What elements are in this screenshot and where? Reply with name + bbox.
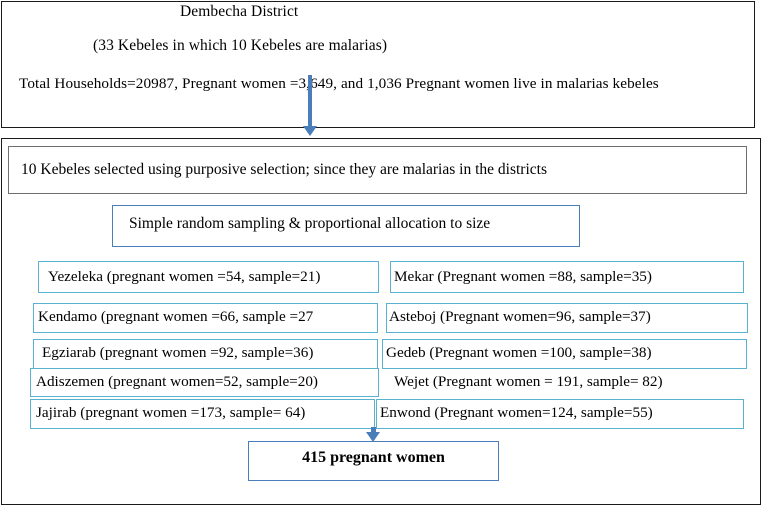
srs-allocation-box: Simple random sampling & proportional al… <box>112 205 580 247</box>
kebele-label-adiszemen: Adiszemen (pregnant women=52, sample=20) <box>36 374 318 389</box>
kebele-label-gedeb: Gedeb (Pregnant women =100, sample=38) <box>386 345 652 360</box>
kebele-label-asteboj: Asteboj (Pregnant women=96, sample=37) <box>389 309 651 324</box>
arrow-district-to-selection-shaft <box>308 75 312 128</box>
kebele-label-enwond: Enwond (Pregnant women=124, sample=55) <box>380 405 653 420</box>
total-sample-label: 415 pregnant women <box>249 449 498 467</box>
flowchart-canvas: Dembecha District (33 Kebeles in which 1… <box>0 0 784 516</box>
kebele-label-egziarab: Egziarab (pregnant women =92, sample=36) <box>42 345 313 360</box>
kebele-label-jajirab: Jajirab (pregnant women =173, sample= 64… <box>36 405 305 420</box>
district-title: Dembecha District <box>180 4 298 20</box>
kebele-label-mekar: Mekar (Pregnant women =88, sample=35) <box>394 269 652 284</box>
srs-allocation-text: Simple random sampling & proportional al… <box>129 215 490 233</box>
purposive-selection-text: 10 Kebeles selected using purposive sele… <box>21 161 547 179</box>
district-kebeles-line: (33 Kebeles in which 10 Kebeles are mala… <box>93 38 387 54</box>
arrow-district-to-selection-head <box>303 126 317 136</box>
purposive-selection-box: 10 Kebeles selected using purposive sele… <box>8 146 747 194</box>
kebele-label-kendamo: Kendamo (pregnant women =66, sample =27 <box>38 309 313 324</box>
kebele-label-wejet: Wejet (Pregnant women = 191, sample= 82) <box>394 374 663 389</box>
total-sample-box: 415 pregnant women <box>248 441 499 481</box>
kebele-label-yezeleka: Yezeleka (pregnant women =54, sample=21) <box>48 269 320 284</box>
district-totals-line: Total Households=20987, Pregnant women =… <box>19 76 659 91</box>
district-panel <box>1 1 755 128</box>
